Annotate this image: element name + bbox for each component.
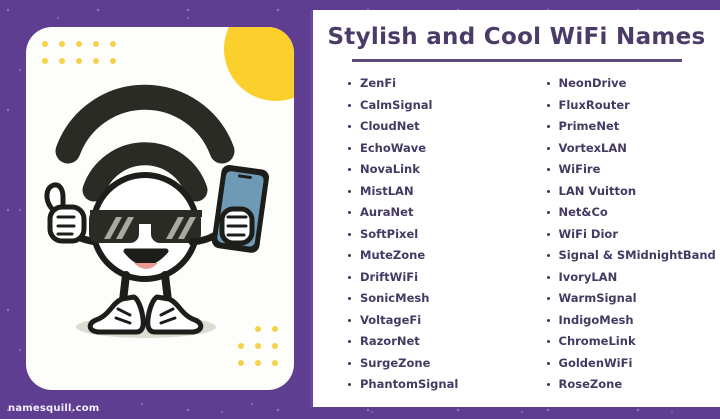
list-item: VoltageFi (347, 310, 522, 332)
list-item: IvoryLAN (546, 267, 720, 289)
list-item: LAN Vuitton (546, 181, 720, 203)
list-item: SurgeZone (347, 353, 522, 375)
list-item: WiFire (546, 159, 720, 181)
names-column-left: ZenFi CalmSignal CloudNet EchoWave NovaL… (347, 73, 522, 396)
list-item: CloudNet (347, 116, 522, 138)
list-item: RazorNet (347, 331, 522, 353)
list-item: MuteZone (347, 245, 522, 267)
wifi-mascot-illustration (26, 27, 294, 390)
list-item: PhantomSignal (347, 374, 522, 396)
name-list-left: ZenFi CalmSignal CloudNet EchoWave NovaL… (347, 73, 522, 396)
list-item: VortexLAN (546, 138, 720, 160)
list-item: SonicMesh (347, 288, 522, 310)
mascot-left-fist (50, 207, 84, 241)
list-item: NeonDrive (546, 73, 720, 95)
names-columns: ZenFi CalmSignal CloudNet EchoWave NovaL… (313, 62, 720, 396)
name-list-right: NeonDrive FluxRouter PrimeNet VortexLAN … (546, 73, 720, 396)
list-item: SoftPixel (347, 224, 522, 246)
illustration-card (26, 27, 294, 390)
list-item: MistLAN (347, 181, 522, 203)
list-item: GoldenWiFi (546, 353, 720, 375)
list-item: ChromeLink (546, 331, 720, 353)
list-item: WiFi Dior (546, 224, 720, 246)
list-item: PrimeNet (546, 116, 720, 138)
list-item: Net&Co (546, 202, 720, 224)
list-item: NovaLink (347, 159, 522, 181)
list-item: RoseZone (546, 374, 720, 396)
list-item: EchoWave (347, 138, 522, 160)
wifi-names-poster: Stylish and Cool WiFi Names ZenFi CalmSi… (0, 0, 720, 419)
list-item: IndigoMesh (546, 310, 720, 332)
list-item: FluxRouter (546, 95, 720, 117)
page-title: Stylish and Cool WiFi Names (313, 10, 720, 50)
list-item: WarmSignal (546, 288, 720, 310)
watermark: namesquill.com (8, 403, 99, 414)
names-column-right: NeonDrive FluxRouter PrimeNet VortexLAN … (546, 73, 720, 396)
list-item: ZenFi (347, 73, 522, 95)
list-item: CalmSignal (347, 95, 522, 117)
list-item: Signal & SMidnightBand (546, 245, 720, 267)
names-list-panel: Stylish and Cool WiFi Names ZenFi CalmSi… (310, 10, 720, 407)
list-item: AuraNet (347, 202, 522, 224)
list-item: DriftWiFi (347, 267, 522, 289)
